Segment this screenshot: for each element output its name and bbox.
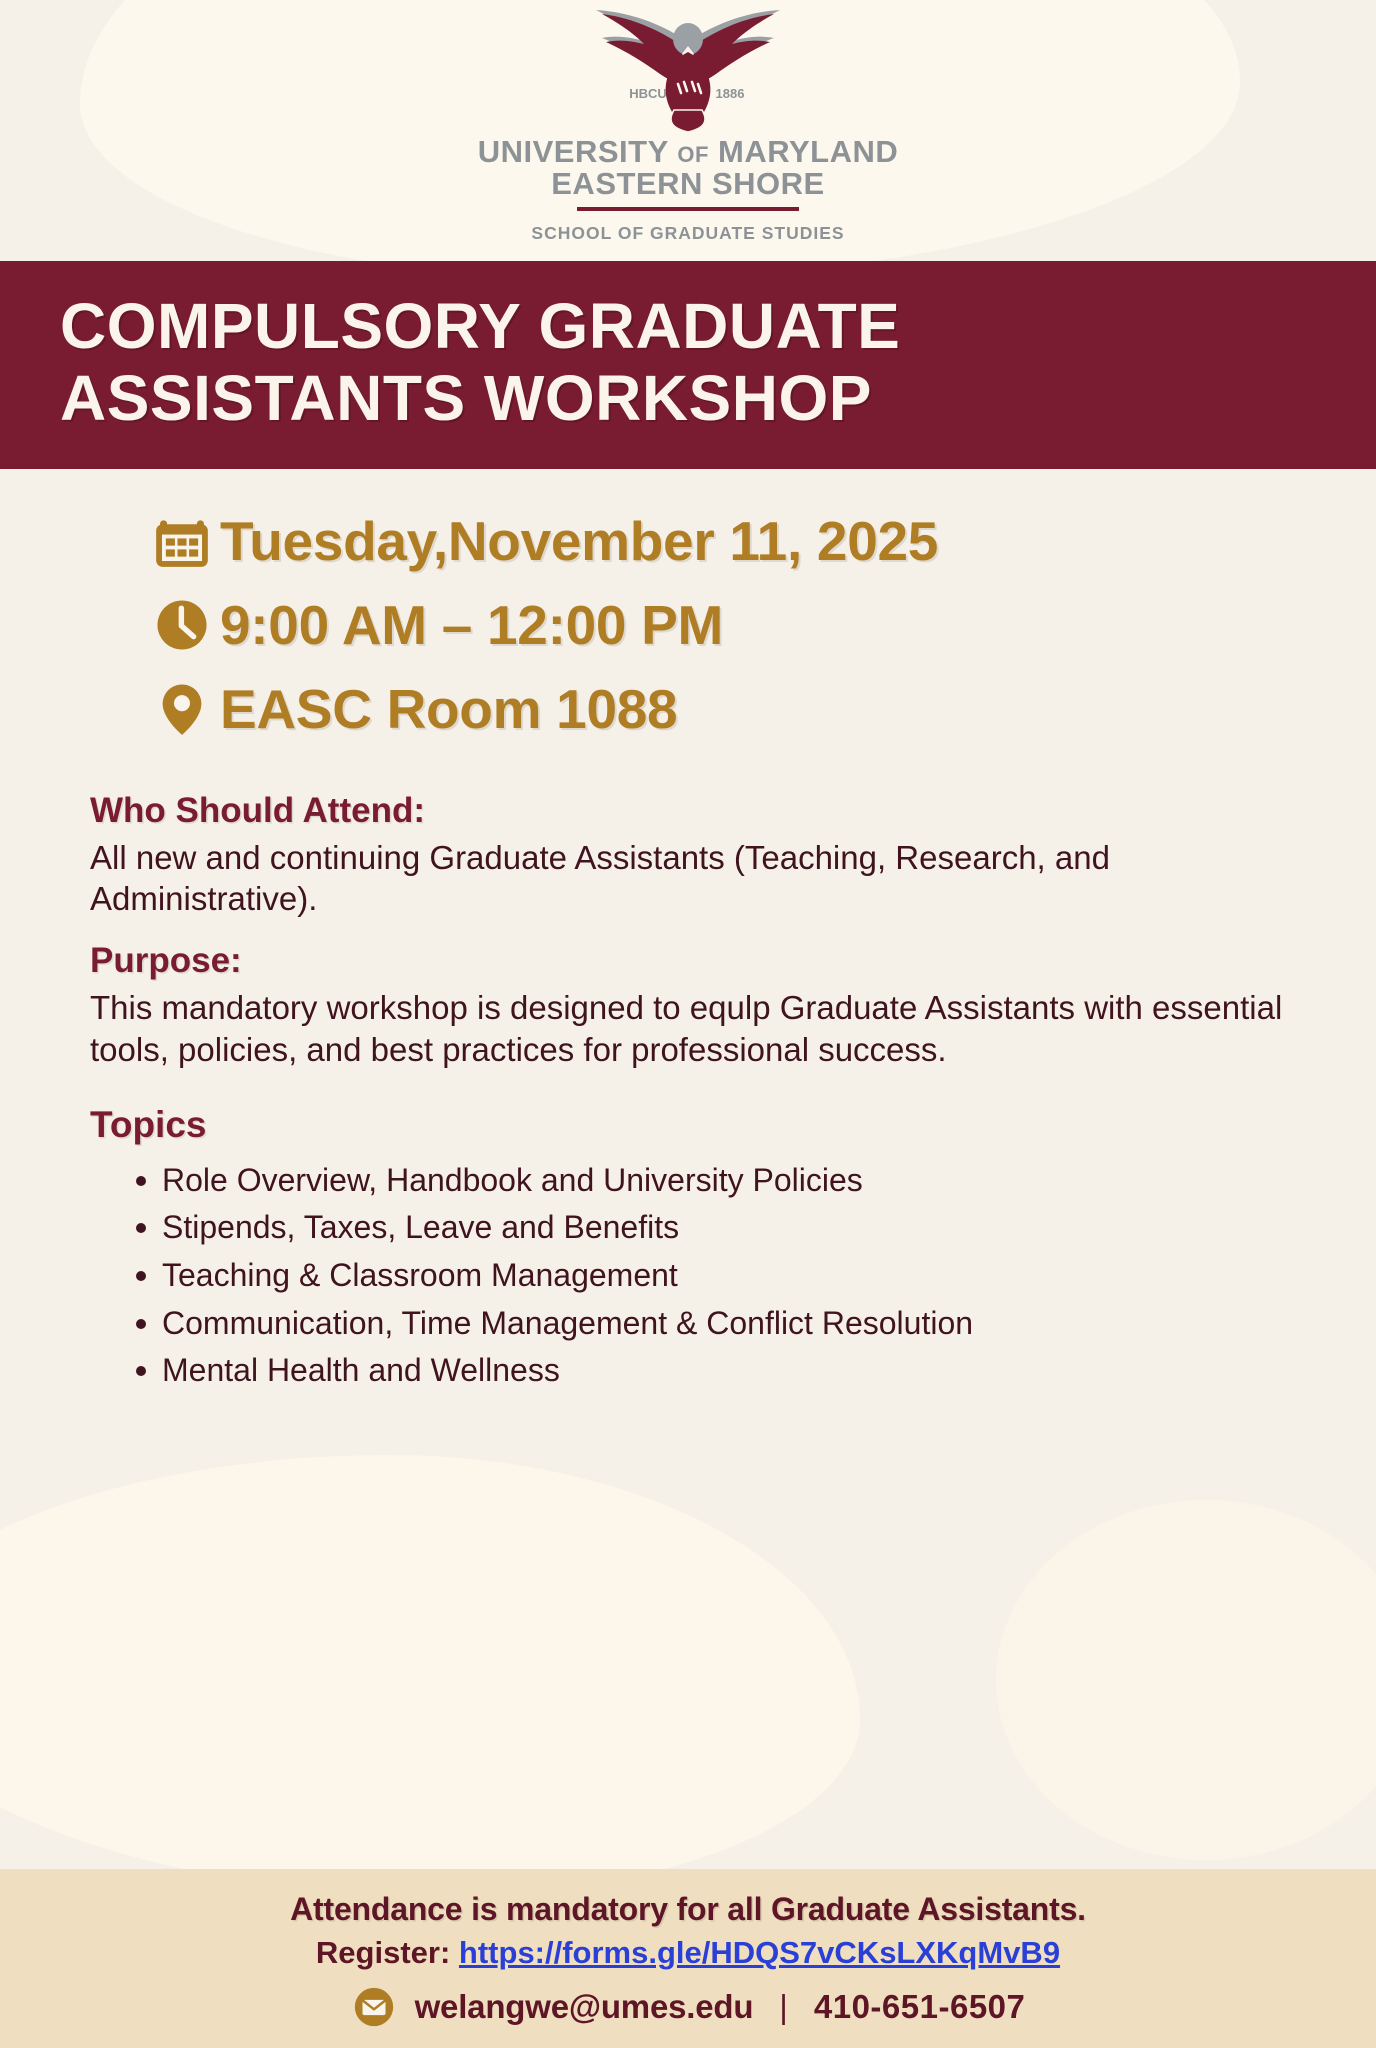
- university-line-two: EASTERN SHORE: [0, 168, 1376, 200]
- university-word-maryland: MARYLAND: [718, 134, 898, 169]
- flyer-footer: Attendance is mandatory for all Graduate…: [0, 1869, 1376, 2048]
- purpose-heading: Purpose:: [90, 941, 1306, 981]
- school-name: SCHOOL OF GRADUATE STUDIES: [0, 223, 1376, 244]
- contact-email[interactable]: welangwe@umes.edu: [415, 1988, 754, 2026]
- register-label: Register:: [316, 1935, 450, 1970]
- event-detail-time: 9:00 AM – 12:00 PM: [144, 583, 1376, 667]
- attendance-mandatory-note: Attendance is mandatory for all Graduate…: [0, 1891, 1376, 1928]
- background-blob-right: [996, 1500, 1376, 1860]
- list-item: Teaching & Classroom Management: [136, 1255, 1306, 1297]
- banner-title: COMPULSORY GRADUATE ASSISTANTS WORKSHOP: [0, 291, 1376, 434]
- who-should-attend-body: All new and continuing Graduate Assistan…: [90, 837, 1306, 920]
- event-location-text: EASC Room 1088: [220, 677, 677, 741]
- contact-row: welangwe@umes.edu | 410-651-6507: [0, 1984, 1376, 2030]
- list-item: Mental Health and Wellness: [136, 1350, 1306, 1392]
- contact-phone[interactable]: 410-651-6507: [814, 1988, 1026, 2026]
- logo-year-text: 1886: [716, 86, 745, 101]
- event-time-text: 9:00 AM – 12:00 PM: [220, 593, 723, 657]
- flyer-page: HBCU 1886 UNIVERSITY OF MARYLAND EASTERN…: [0, 0, 1376, 2048]
- registration-link[interactable]: https://forms.gle/HDQS7vCKsLXKqMvB9: [459, 1935, 1060, 1970]
- event-details: Tuesday,November 11, 2025 9:00 AM – 12:0…: [0, 499, 1376, 751]
- event-detail-location: EASC Room 1088: [144, 667, 1376, 751]
- clock-icon: [144, 594, 220, 656]
- location-pin-icon: [144, 678, 220, 740]
- event-detail-date: Tuesday,November 11, 2025: [144, 499, 1376, 583]
- topics-heading: Topics: [90, 1104, 1306, 1146]
- registration-line: Register: https://forms.gle/HDQS7vCKsLXK…: [0, 1935, 1376, 1971]
- university-word-university: UNIVERSITY: [478, 134, 668, 169]
- title-banner: COMPULSORY GRADUATE ASSISTANTS WORKSHOP: [0, 261, 1376, 468]
- topics-list: Role Overview, Handbook and University P…: [90, 1160, 1306, 1392]
- flyer-body: Who Should Attend: All new and continuin…: [0, 751, 1376, 1392]
- university-name: UNIVERSITY OF MARYLAND EASTERN SHORE: [0, 136, 1376, 200]
- calendar-icon: [144, 510, 220, 572]
- background-blob-middle: [0, 1455, 860, 1895]
- event-date-text: Tuesday,November 11, 2025: [220, 509, 938, 573]
- banner-title-line-1: COMPULSORY GRADUATE: [60, 291, 1316, 363]
- logo-hbcu-text: HBCU: [629, 86, 667, 101]
- who-should-attend-heading: Who Should Attend:: [90, 791, 1306, 831]
- flyer-header: HBCU 1886 UNIVERSITY OF MARYLAND EASTERN…: [0, 0, 1376, 244]
- list-item: Communication, Time Management & Conflic…: [136, 1303, 1306, 1345]
- banner-title-line-2: ASSISTANTS WORKSHOP: [60, 363, 1316, 435]
- purpose-body: This mandatory workshop is designed to e…: [90, 987, 1306, 1070]
- list-item: Role Overview, Handbook and University P…: [136, 1160, 1306, 1202]
- envelope-icon: [351, 1984, 397, 2030]
- list-item: Stipends, Taxes, Leave and Benefits: [136, 1207, 1306, 1249]
- contact-separator: |: [779, 1988, 788, 2026]
- header-divider: [577, 207, 799, 211]
- university-word-of: OF: [677, 142, 709, 167]
- hawk-logo-icon: HBCU 1886: [558, 6, 818, 134]
